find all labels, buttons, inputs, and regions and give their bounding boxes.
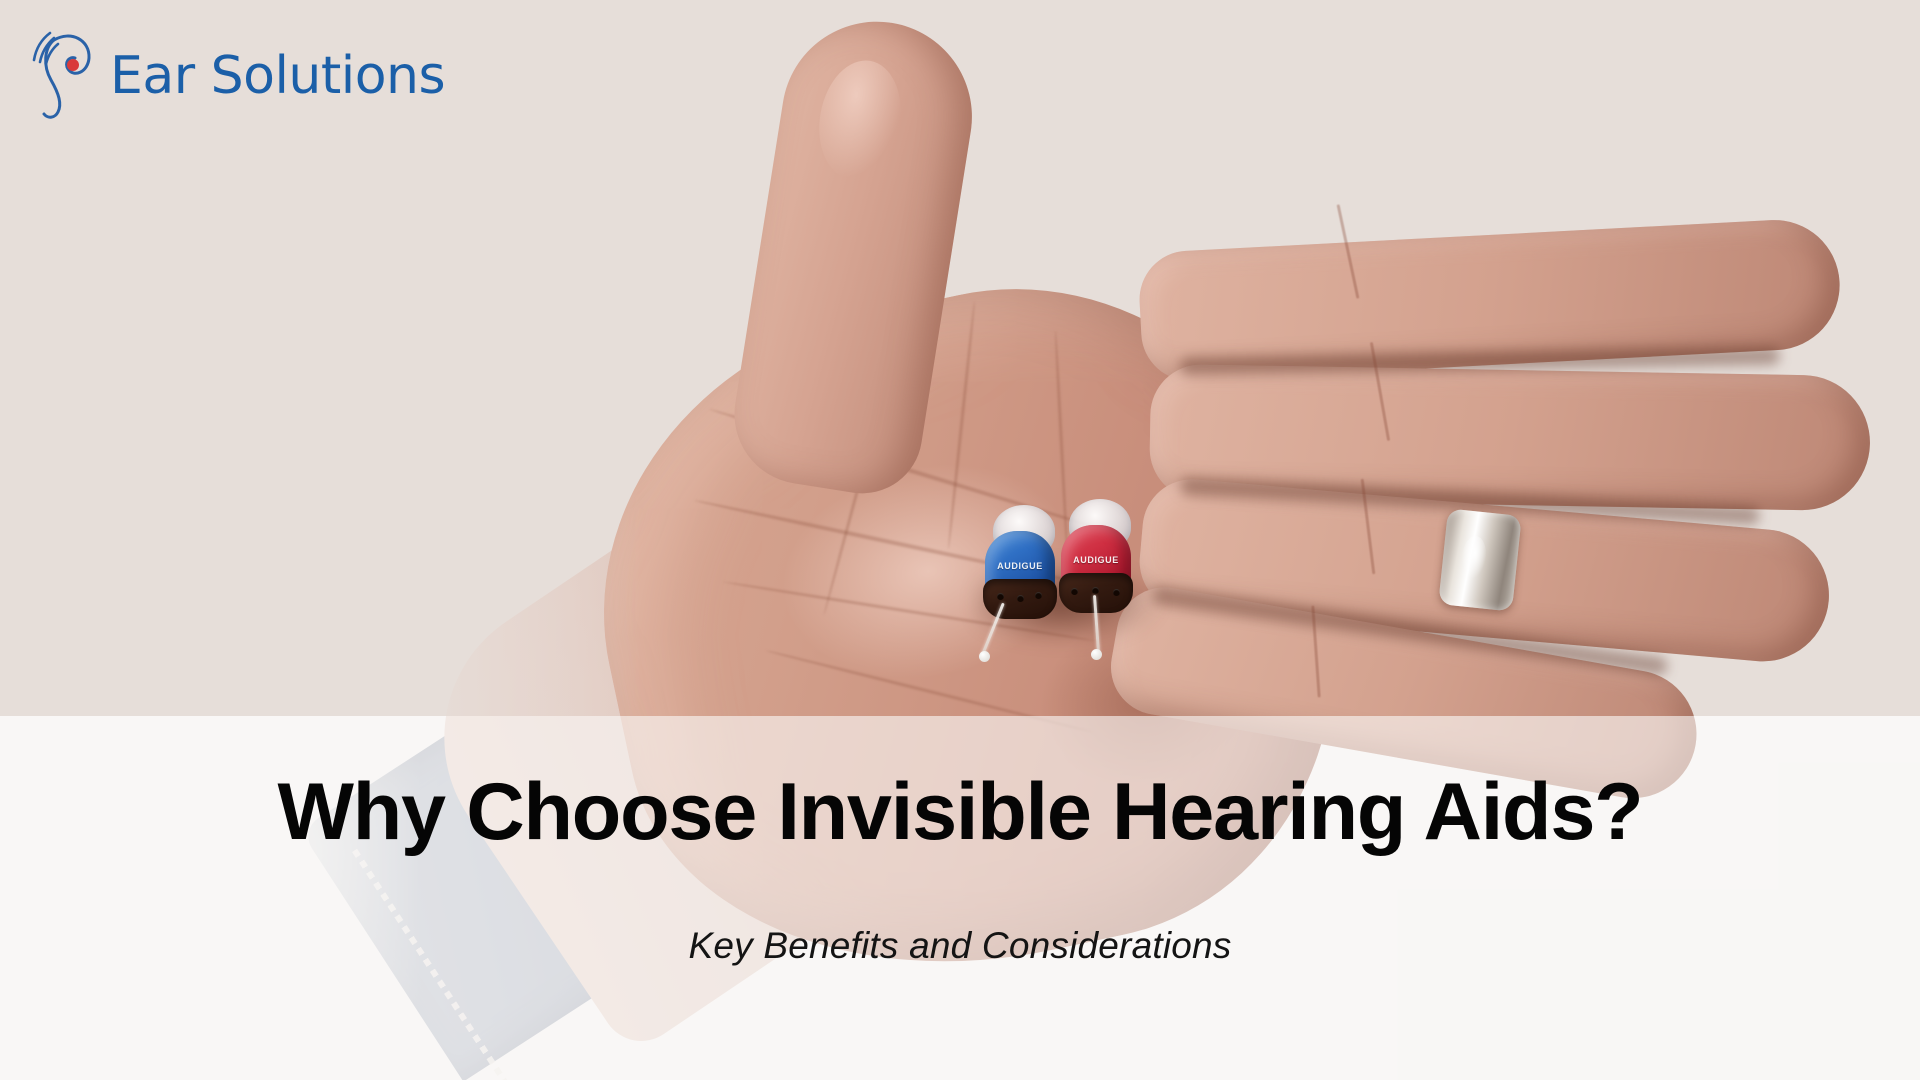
page-title: Why Choose Invisible Hearing Aids? bbox=[0, 772, 1920, 853]
microphone-port bbox=[997, 593, 1004, 600]
brand-name: Ear Solutions bbox=[110, 50, 445, 102]
battery-door-hinge bbox=[1113, 589, 1120, 596]
hero-banner: AUDIGUE AUDIGUE bbox=[0, 0, 1920, 1080]
battery-door-hinge bbox=[1035, 592, 1042, 599]
device-brand-label: AUDIGUE bbox=[985, 561, 1055, 571]
brand-logo[interactable]: Ear Solutions bbox=[24, 24, 445, 128]
microphone-port bbox=[1071, 588, 1078, 595]
hearing-aid-pair: AUDIGUE AUDIGUE bbox=[985, 505, 1175, 665]
hearing-aid-faceplate bbox=[983, 579, 1057, 619]
removal-filament-tip bbox=[979, 651, 990, 662]
microphone-port bbox=[1092, 587, 1099, 594]
ear-soundwave-icon bbox=[24, 24, 100, 128]
removal-filament-tip bbox=[1091, 649, 1102, 660]
page-subtitle: Key Benefits and Considerations bbox=[0, 925, 1920, 967]
device-brand-label: AUDIGUE bbox=[1061, 555, 1131, 565]
microphone-port bbox=[1017, 595, 1024, 602]
